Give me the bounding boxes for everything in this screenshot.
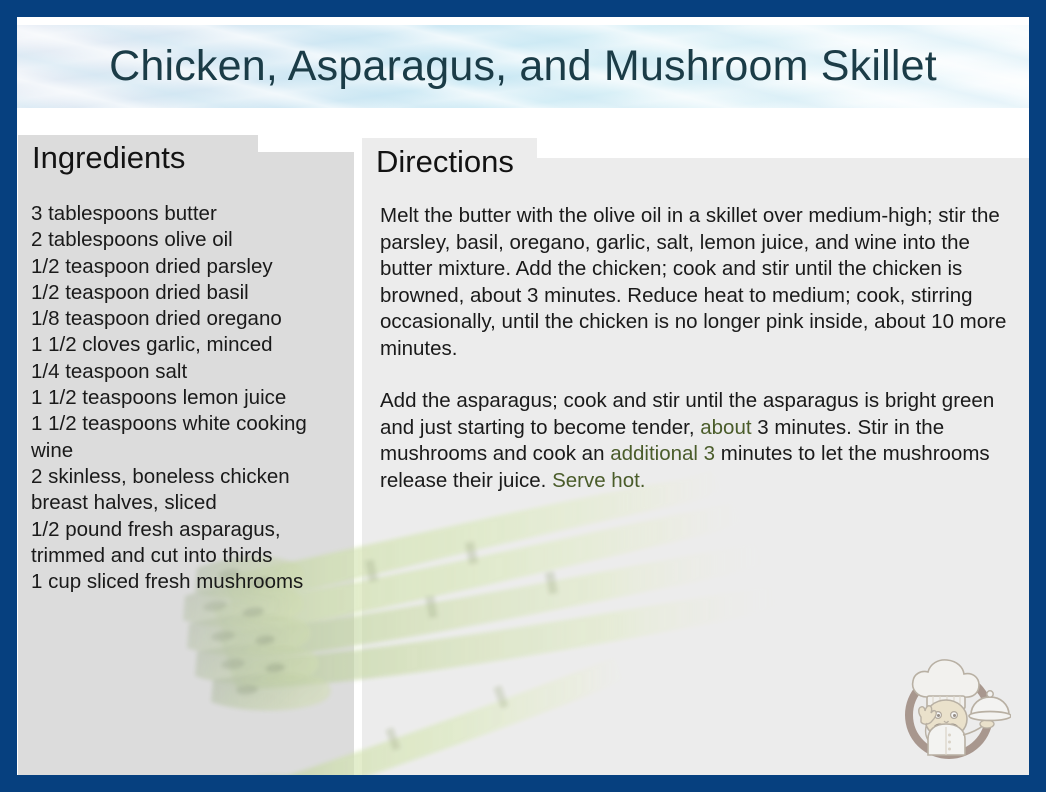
recipe-card: Chicken, Asparagus, and Mushroom Skillet xyxy=(0,0,1046,792)
directions-text-segment: Serve hot. xyxy=(552,469,645,492)
ingredients-header-tab: Ingredients xyxy=(18,135,258,179)
recipe-title: Chicken, Asparagus, and Mushroom Skillet xyxy=(109,45,937,88)
title-banner: Chicken, Asparagus, and Mushroom Skillet xyxy=(17,25,1029,108)
directions-heading: Directions xyxy=(376,140,514,184)
ingredient-item: 2 skinless, boneless chicken breast halv… xyxy=(22,464,331,517)
ingredient-item: 1/2 pound fresh asparagus, trimmed and c… xyxy=(22,517,331,570)
directions-text-segment: additional 3 xyxy=(610,442,715,465)
recipe-columns: Ingredients Directions 3 tablespoons but… xyxy=(17,126,1029,775)
ingredient-item: 1/2 teaspoon dried basil xyxy=(22,280,352,306)
ingredient-item: 1 1/2 teaspoons lemon juice xyxy=(22,385,352,411)
directions-text-segment: about xyxy=(700,416,751,439)
ingredient-item: 2 tablespoons olive oil xyxy=(22,227,352,253)
directions-paragraph-1: Melt the butter with the olive oil in a … xyxy=(369,203,1029,362)
card-inner-area: Chicken, Asparagus, and Mushroom Skillet xyxy=(17,17,1029,775)
ingredient-item: 1/4 teaspoon salt xyxy=(22,359,352,385)
directions-paragraph-2: Add the asparagus; cook and stir until t… xyxy=(369,388,1029,494)
directions-header-tab: Directions xyxy=(362,138,537,184)
ingredient-item: 1 1/2 teaspoons white cooking wine xyxy=(22,411,331,464)
ingredient-item: 1 cup sliced fresh mushrooms xyxy=(22,569,352,595)
directions-body: Melt the butter with the olive oil in a … xyxy=(369,203,1029,494)
ingredients-heading: Ingredients xyxy=(32,137,185,179)
ingredient-item: 1/2 teaspoon dried parsley xyxy=(22,254,352,280)
ingredients-list: 3 tablespoons butter 2 tablespoons olive… xyxy=(22,201,352,595)
ingredient-item: 1 1/2 cloves garlic, minced xyxy=(22,332,352,358)
ingredient-item: 3 tablespoons butter xyxy=(22,201,352,227)
ingredient-item: 1/8 teaspoon dried oregano xyxy=(22,306,352,332)
